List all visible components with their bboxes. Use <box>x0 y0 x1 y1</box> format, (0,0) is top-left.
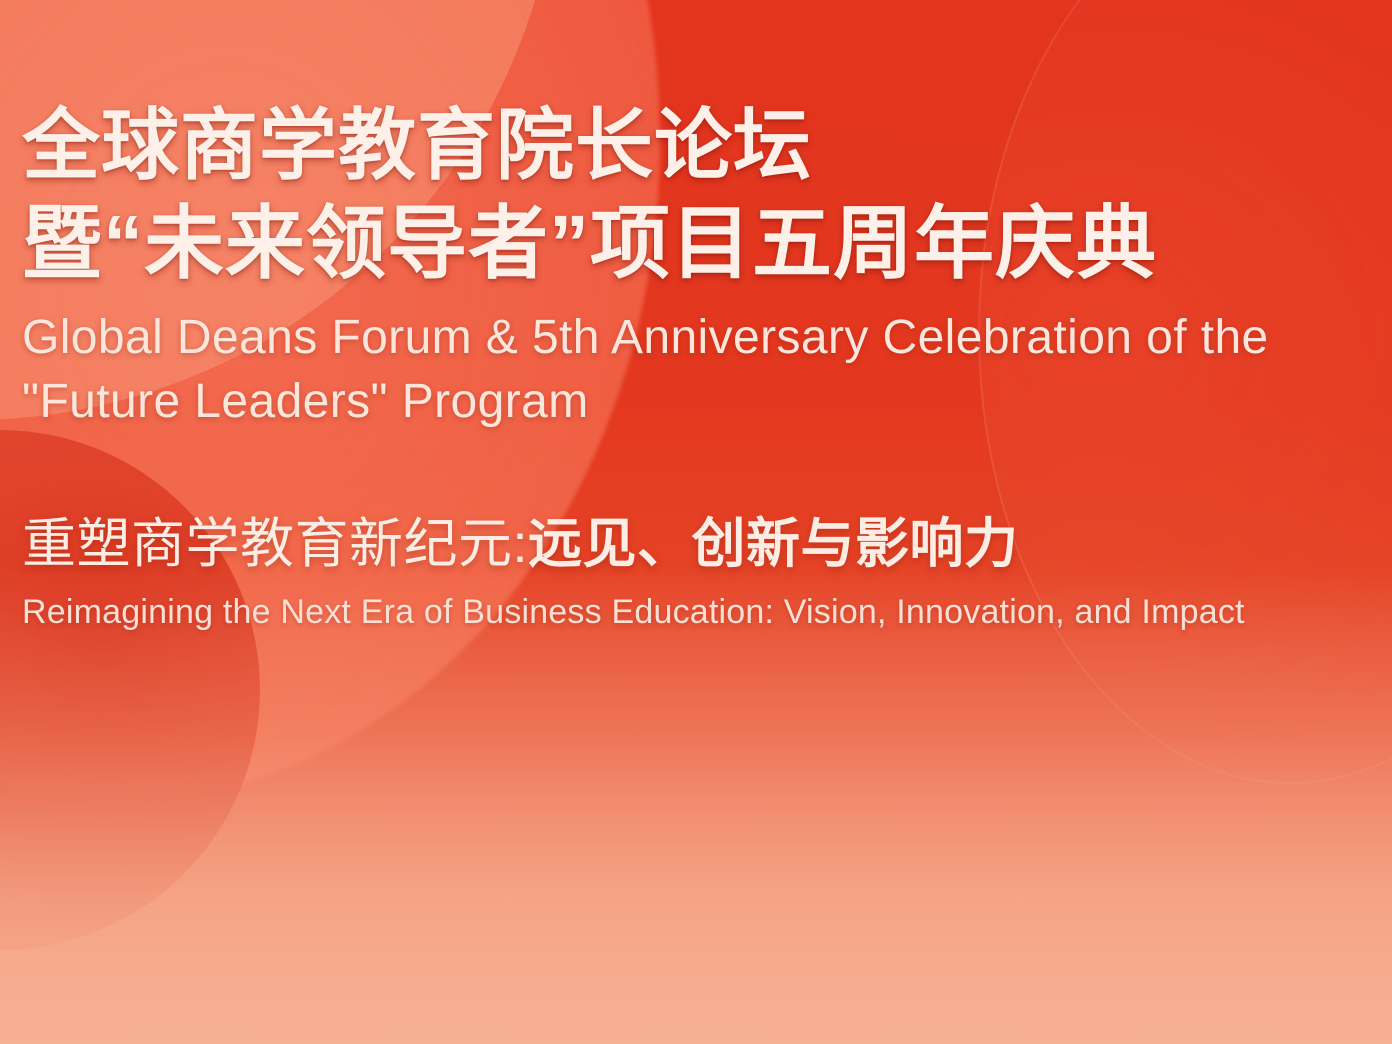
headline-chinese-line-1: 全球商学教育院长论坛 <box>22 106 1372 184</box>
poster-content: 全球商学教育院长论坛 暨“未来领导者”项目五周年庆典 Global Deans … <box>0 0 1392 633</box>
event-poster: 全球商学教育院长论坛 暨“未来领导者”项目五周年庆典 Global Deans … <box>0 0 1392 1044</box>
theme-chinese: 重塑商学教育新纪元:远见、创新与影响力 <box>22 515 1372 574</box>
theme-english: Reimagining the Next Era of Business Edu… <box>22 592 1372 633</box>
theme-chinese-accent: 远见、创新与影响力 <box>528 514 1019 574</box>
theme-chinese-lead: 重塑商学教育新纪元: <box>22 514 528 574</box>
bottom-fade-overlay <box>0 564 1392 1044</box>
headline-english: Global Deans Forum & 5th Anniversary Cel… <box>22 306 1372 435</box>
headline-chinese-line-2: 暨“未来领导者”项目五周年庆典 <box>22 204 1372 284</box>
